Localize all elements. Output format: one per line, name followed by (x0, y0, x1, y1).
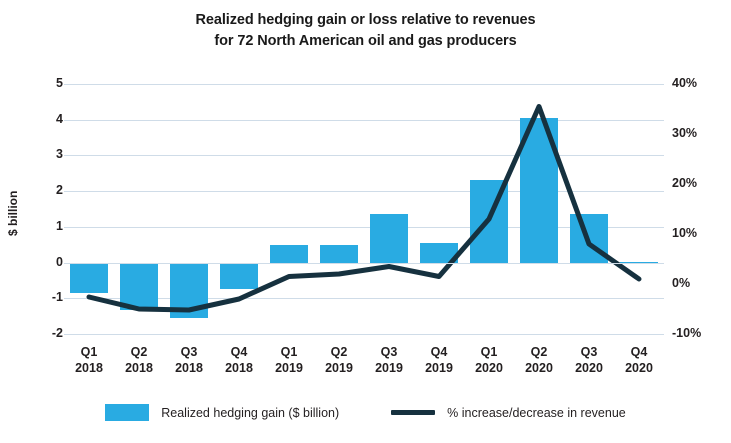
x-axis-tick-line: 2020 (464, 360, 514, 376)
x-axis-tick-label: Q32020 (564, 340, 614, 386)
x-axis-tick-line: Q1 (464, 344, 514, 360)
line-series (64, 84, 664, 334)
x-axis-tick-line: 2020 (564, 360, 614, 376)
x-axis-tick-line: Q2 (114, 344, 164, 360)
y-axis-tick-label: 4 (37, 112, 63, 126)
revenue-change-line[interactable] (89, 107, 639, 311)
x-axis-tick-line: Q2 (514, 344, 564, 360)
y-axis-tick-label: 0 (37, 255, 63, 269)
x-axis-tick-line: 2019 (264, 360, 314, 376)
x-axis-tick-line: Q3 (564, 344, 614, 360)
chart-title-line-1: Realized hedging gain or loss relative t… (0, 10, 731, 31)
legend-item[interactable]: % increase/decrease in revenue (391, 406, 626, 420)
x-axis-tick-line: Q4 (414, 344, 464, 360)
y2-axis-tick-label: 30% (672, 126, 722, 140)
plot-area (64, 84, 664, 334)
x-axis-tick-line: Q3 (364, 344, 414, 360)
chart-title-line-2: for 72 North American oil and gas produc… (0, 31, 731, 52)
x-axis-tick-line: 2020 (514, 360, 564, 376)
x-axis-tick-label: Q32019 (364, 340, 414, 386)
y-axis-tick-label: 2 (37, 183, 63, 197)
legend-bar-swatch-icon (105, 404, 149, 421)
y-axis-tick-label: 3 (37, 147, 63, 161)
x-axis-tick-line: 2018 (64, 360, 114, 376)
x-axis-tick-label: Q22019 (314, 340, 364, 386)
x-axis-tick-line: Q3 (164, 344, 214, 360)
y-axis-title: $ billion (6, 191, 20, 236)
x-axis-tick-line: 2019 (414, 360, 464, 376)
y2-axis-tick-label: 40% (672, 76, 722, 90)
x-axis-tick-line: 2019 (314, 360, 364, 376)
y-axis-tick-label: -1 (37, 290, 63, 304)
x-axis-tick-line: 2020 (614, 360, 664, 376)
x-axis-tick-label: Q42020 (614, 340, 664, 386)
y2-axis-tick-label: 10% (672, 226, 722, 240)
x-axis-tick-label: Q12020 (464, 340, 514, 386)
x-axis-tick-label: Q12018 (64, 340, 114, 386)
zero-line (64, 263, 664, 264)
y-axis-tick-label: -2 (37, 326, 63, 340)
chart-container: Realized hedging gain or loss relative t… (0, 0, 731, 443)
x-axis-tick-line: 2018 (214, 360, 264, 376)
x-axis-tick-label: Q42018 (214, 340, 264, 386)
chart-title: Realized hedging gain or loss relative t… (0, 10, 731, 52)
x-axis-tick-line: Q4 (214, 344, 264, 360)
legend-label: Realized hedging gain ($ billion) (161, 406, 339, 420)
legend-item[interactable]: Realized hedging gain ($ billion) (105, 404, 339, 421)
x-axis-tick-label: Q12019 (264, 340, 314, 386)
x-axis-tick-label: Q22018 (114, 340, 164, 386)
y2-axis-tick-label: 20% (672, 176, 722, 190)
x-axis-tick-line: 2019 (364, 360, 414, 376)
y2-axis-tick-label: 0% (672, 276, 722, 290)
x-axis-tick-line: Q4 (614, 344, 664, 360)
legend-line-swatch-icon (391, 410, 435, 415)
y-axis-tick-label: 5 (37, 76, 63, 90)
legend-label: % increase/decrease in revenue (447, 406, 626, 420)
gridline (64, 334, 664, 335)
x-axis-tick-line: 2018 (164, 360, 214, 376)
x-axis-tick-line: Q1 (64, 344, 114, 360)
x-axis-tick-line: Q1 (264, 344, 314, 360)
x-axis-tick-line: Q2 (314, 344, 364, 360)
x-axis-tick-label: Q22020 (514, 340, 564, 386)
y-axis-tick-label: 1 (37, 219, 63, 233)
x-axis-tick-label: Q32018 (164, 340, 214, 386)
y2-axis-tick-label: -10% (672, 326, 722, 340)
x-axis-tick-line: 2018 (114, 360, 164, 376)
chart-legend: Realized hedging gain ($ billion)% incre… (0, 404, 731, 421)
x-axis-labels: Q12018Q22018Q32018Q42018Q12019Q22019Q320… (64, 340, 664, 386)
x-axis-tick-label: Q42019 (414, 340, 464, 386)
